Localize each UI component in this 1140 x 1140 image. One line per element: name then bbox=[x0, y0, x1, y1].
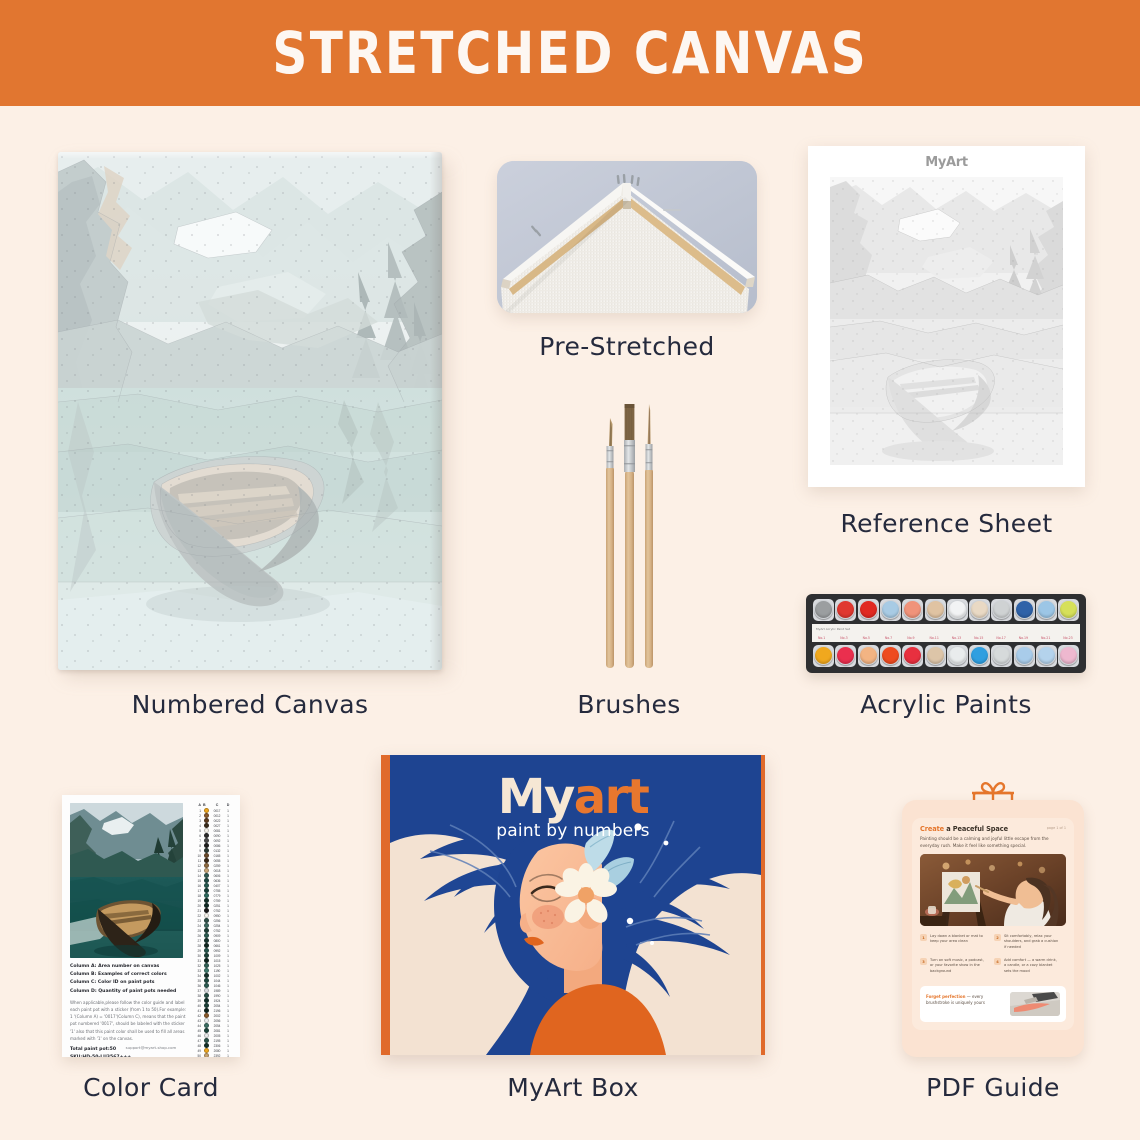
row-quantity: 1 bbox=[224, 1004, 232, 1008]
color-card-row: 3919241 bbox=[194, 998, 234, 1003]
color-card-row: 1300181 bbox=[194, 868, 234, 873]
row-quantity: 1 bbox=[224, 974, 232, 978]
row-quantity: 1 bbox=[224, 1024, 232, 1028]
color-card-row: 4320561 bbox=[194, 1018, 234, 1023]
row-area-number: 11 bbox=[194, 859, 203, 863]
col-header-c: C bbox=[210, 803, 224, 807]
col-header-a: A bbox=[194, 803, 203, 807]
row-area-number: 28 bbox=[194, 944, 203, 948]
svg-text:No.17: No.17 bbox=[996, 636, 1005, 640]
row-color-id: 2005 bbox=[210, 1034, 224, 1038]
acrylic-paints-figure: MyArt Acrylic Paint Set No.1No.3No.5No.7… bbox=[806, 594, 1086, 673]
pdf-guide-card: Create a Peaceful Space page 1 of 1 Pain… bbox=[902, 800, 1084, 1057]
row-area-number: 41 bbox=[194, 1009, 203, 1013]
fine-liner-brush bbox=[645, 404, 653, 668]
svg-text:No.3: No.3 bbox=[840, 636, 847, 640]
color-card-row: 200121 bbox=[194, 813, 234, 818]
caption-numbered-canvas: Numbered Canvas bbox=[58, 690, 442, 719]
row-area-number: 16 bbox=[194, 884, 203, 888]
color-card-row: 2507521 bbox=[194, 928, 234, 933]
row-quantity: 1 bbox=[224, 969, 232, 973]
svg-text:No.1: No.1 bbox=[818, 636, 825, 640]
row-color-id: 0017 bbox=[210, 809, 224, 813]
color-card-row: 1707551 bbox=[194, 888, 234, 893]
row-quantity: 1 bbox=[224, 1029, 232, 1033]
caption-reference-sheet: Reference Sheet bbox=[808, 509, 1085, 538]
row-color-id: 1044 bbox=[210, 979, 224, 983]
paint-pot bbox=[970, 600, 989, 619]
logo-art-text: art bbox=[574, 769, 649, 825]
myart-box-image: Myart paint by numbers bbox=[381, 755, 765, 1055]
row-color-id: 0027 bbox=[210, 824, 224, 828]
flat-wide-brush bbox=[624, 404, 635, 668]
tip-number: 1 bbox=[920, 934, 927, 941]
row-quantity: 1 bbox=[224, 919, 232, 923]
tip-number: 3 bbox=[920, 958, 927, 965]
row-color-id: 0055 bbox=[210, 859, 224, 863]
color-card-row: 4020541 bbox=[194, 1003, 234, 1008]
row-quantity: 1 bbox=[224, 989, 232, 993]
caption-brushes: Brushes bbox=[500, 690, 758, 719]
row-area-number: 44 bbox=[194, 1024, 203, 1028]
color-card-row: 3210251 bbox=[194, 963, 234, 968]
color-card-row: 2609091 bbox=[194, 933, 234, 938]
row-color-id: 1989 bbox=[210, 989, 224, 993]
pdf-guide-body: Painting should be a calming and joyful … bbox=[920, 836, 1066, 849]
row-quantity: 1 bbox=[224, 1019, 232, 1023]
row-area-number: 27 bbox=[194, 939, 203, 943]
heading-rest: a Peaceful Space bbox=[944, 825, 1008, 833]
color-card-row: 3819901 bbox=[194, 993, 234, 998]
row-area-number: 42 bbox=[194, 1014, 203, 1018]
row-color-id: 0018 bbox=[210, 869, 224, 873]
row-quantity: 1 bbox=[224, 944, 232, 948]
myart-box-logo: Myart bbox=[381, 769, 765, 825]
row-color-id: 0992 bbox=[210, 949, 224, 953]
row-color-id: 1002 bbox=[210, 974, 224, 978]
color-card-row: 2708001 bbox=[194, 938, 234, 943]
row-quantity: 1 bbox=[224, 1054, 232, 1057]
paint-pot bbox=[859, 646, 878, 665]
svg-text:No.11: No.11 bbox=[930, 636, 939, 640]
color-card-row: 2002511 bbox=[194, 903, 234, 908]
caption-pre-stretched: Pre-Stretched bbox=[497, 332, 757, 361]
row-quantity: 1 bbox=[224, 814, 232, 818]
pdf-guide-figure: Create a Peaceful Space page 1 of 1 Pain… bbox=[902, 780, 1084, 1057]
row-color-id: 0254 bbox=[210, 924, 224, 928]
color-card-row: 1907591 bbox=[194, 898, 234, 903]
row-quantity: 1 bbox=[224, 859, 232, 863]
color-card-row: 4220021 bbox=[194, 1013, 234, 1018]
row-color-id: 0081 bbox=[210, 829, 224, 833]
row-quantity: 1 bbox=[224, 874, 232, 878]
row-color-id: 0165 bbox=[210, 854, 224, 858]
numbered-canvas-image bbox=[58, 152, 442, 670]
row-quantity: 1 bbox=[224, 834, 232, 838]
row-color-id: 2002 bbox=[210, 1014, 224, 1018]
pdf-guide-note: Forget perfection — every brushstroke is… bbox=[920, 986, 1066, 1022]
sku-line: SKU:HD-50-LU3567+++ bbox=[70, 1054, 190, 1057]
row-color-id: 0950 bbox=[210, 914, 224, 918]
paint-pot bbox=[970, 646, 989, 665]
color-card-row: 800861 bbox=[194, 843, 234, 848]
brushstroke-closeup-svg bbox=[1010, 992, 1060, 1016]
myart-box-figure: Myart paint by numbers bbox=[381, 755, 765, 1055]
row-color-id: 2054 bbox=[210, 1004, 224, 1008]
color-card-row: 3311901 bbox=[194, 968, 234, 973]
brushes-svg bbox=[585, 388, 675, 673]
row-area-number: 32 bbox=[194, 964, 203, 968]
row-color-id: 0086 bbox=[210, 844, 224, 848]
color-card-row: 1001651 bbox=[194, 853, 234, 858]
svg-text:No.15: No.15 bbox=[974, 636, 983, 640]
tip-number: 2 bbox=[994, 934, 1001, 941]
row-area-number: 29 bbox=[194, 949, 203, 953]
row-quantity: 1 bbox=[224, 914, 232, 918]
row-area-number: 2 bbox=[194, 814, 203, 818]
row-quantity: 1 bbox=[224, 909, 232, 913]
row-color-id: 0755 bbox=[210, 889, 224, 893]
pdf-guide-tip: 3Turn on soft music, a podcast, or your … bbox=[920, 958, 986, 974]
color-card-row: 3010091 bbox=[194, 953, 234, 958]
row-area-number: 18 bbox=[194, 894, 203, 898]
color-card-row: 3410021 bbox=[194, 973, 234, 978]
row-color-id: 0132 bbox=[210, 849, 224, 853]
pdf-note-text: Forget perfection — every brushstroke is… bbox=[926, 994, 1004, 1006]
support-email: support@myart-shop.com bbox=[70, 1045, 232, 1050]
row-color-swatch bbox=[203, 1053, 210, 1057]
row-quantity: 1 bbox=[224, 949, 232, 953]
row-quantity: 1 bbox=[224, 884, 232, 888]
row-color-id: 0022 bbox=[210, 819, 224, 823]
color-card-scene-svg bbox=[70, 803, 183, 958]
legend-line-b: Column B: Examples of correct colors bbox=[70, 971, 190, 979]
row-color-id: 0909 bbox=[210, 934, 224, 938]
brushes-figure bbox=[585, 388, 675, 673]
painting-scene-photo-svg bbox=[920, 854, 1066, 926]
row-quantity: 1 bbox=[224, 824, 232, 828]
row-quantity: 1 bbox=[224, 964, 232, 968]
row-quantity: 1 bbox=[224, 889, 232, 893]
row-area-number: 24 bbox=[194, 924, 203, 928]
paint-tray: MyArt Acrylic Paint Set No.1No.3No.5No.7… bbox=[806, 594, 1086, 673]
row-quantity: 1 bbox=[224, 864, 232, 868]
paint-pot bbox=[859, 600, 878, 619]
row-color-id: 0090 bbox=[210, 834, 224, 838]
color-card-row: 3510441 bbox=[194, 978, 234, 983]
row-quantity: 1 bbox=[224, 1034, 232, 1038]
row-area-number: 20 bbox=[194, 904, 203, 908]
logo-my-text: My bbox=[498, 769, 574, 825]
row-color-id: 1009 bbox=[210, 954, 224, 958]
reference-scene-svg bbox=[830, 177, 1063, 465]
row-area-number: 30 bbox=[194, 954, 203, 958]
row-color-id: 1990 bbox=[210, 994, 224, 998]
heading-highlight: Create bbox=[920, 825, 944, 833]
row-area-number: 3 bbox=[194, 819, 203, 823]
svg-text:No.9: No.9 bbox=[907, 636, 914, 640]
svg-text:No.5: No.5 bbox=[863, 636, 870, 640]
pre-stretched-figure bbox=[497, 161, 757, 313]
row-area-number: 35 bbox=[194, 979, 203, 983]
row-color-id: 0259 bbox=[210, 864, 224, 868]
color-card-row: 2909921 bbox=[194, 948, 234, 953]
color-card-row: 100171 bbox=[194, 808, 234, 813]
tip-text: Turn on soft music, a podcast, or your f… bbox=[930, 958, 986, 974]
color-card-rows: 1001712001213002214002715008116009017009… bbox=[194, 808, 234, 1057]
row-quantity: 1 bbox=[224, 839, 232, 843]
row-quantity: 1 bbox=[224, 1039, 232, 1043]
color-card-row: 4721951 bbox=[194, 1038, 234, 1043]
row-quantity: 1 bbox=[224, 894, 232, 898]
color-card-table-header: A B C D bbox=[194, 803, 234, 807]
pdf-guide-page: Create a Peaceful Space page 1 of 1 Pain… bbox=[912, 818, 1074, 1030]
color-card-figure: A B C D 10017120012130022140027150081160… bbox=[62, 795, 240, 1057]
row-area-number: 12 bbox=[194, 864, 203, 868]
paint-pot bbox=[1015, 646, 1034, 665]
pdf-guide-heading: Create a Peaceful Space bbox=[920, 825, 1008, 833]
color-card-row: 400271 bbox=[194, 823, 234, 828]
color-card-row: 4121961 bbox=[194, 1008, 234, 1013]
row-quantity: 1 bbox=[224, 854, 232, 858]
row-color-id: 0759 bbox=[210, 899, 224, 903]
row-area-number: 22 bbox=[194, 914, 203, 918]
color-card-row: 1506361 bbox=[194, 878, 234, 883]
tip-text: Lay down a blanket or mat to keep your a… bbox=[930, 934, 986, 945]
row-color-id: 2392 bbox=[210, 1054, 224, 1057]
row-color-id: 0012 bbox=[210, 814, 224, 818]
row-color-id: 1924 bbox=[210, 999, 224, 1003]
row-color-id: 0606 bbox=[210, 874, 224, 878]
row-area-number: 43 bbox=[194, 1019, 203, 1023]
canvas-scene-svg bbox=[58, 152, 442, 670]
tip-text: Sit comfortably, relax your shoulders, a… bbox=[1004, 934, 1060, 950]
row-color-id: 0636 bbox=[210, 879, 224, 883]
row-area-number: 8 bbox=[194, 844, 203, 848]
paint-pot bbox=[948, 646, 967, 665]
legend-line-d: Column D: Quantity of paint pots needed bbox=[70, 988, 190, 996]
color-card-row: 4620051 bbox=[194, 1033, 234, 1038]
svg-text:No.7: No.7 bbox=[885, 636, 892, 640]
row-color-id: 0752 bbox=[210, 909, 224, 913]
paint-pot bbox=[948, 600, 967, 619]
row-quantity: 1 bbox=[224, 1014, 232, 1018]
color-card-paper: A B C D 10017120012130022140027150081160… bbox=[62, 795, 240, 1057]
color-card-row: 3110151 bbox=[194, 958, 234, 963]
row-area-number: 47 bbox=[194, 1039, 203, 1043]
row-area-number: 39 bbox=[194, 999, 203, 1003]
svg-text:No.23: No.23 bbox=[1063, 636, 1072, 640]
svg-text:No.13: No.13 bbox=[952, 636, 961, 640]
row-area-number: 1 bbox=[194, 809, 203, 813]
color-card-row: 700921 bbox=[194, 838, 234, 843]
row-quantity: 1 bbox=[224, 924, 232, 928]
row-area-number: 10 bbox=[194, 854, 203, 858]
legend-line-c: Column C: Color ID on paint pots bbox=[70, 979, 190, 987]
row-area-number: 46 bbox=[194, 1034, 203, 1038]
row-color-id: 0752 bbox=[210, 929, 224, 933]
row-area-number: 38 bbox=[194, 994, 203, 998]
row-color-id: 2056 bbox=[210, 1019, 224, 1023]
color-card-table: A B C D 10017120012130022140027150081160… bbox=[194, 803, 234, 1057]
caption-acrylic-paints: Acrylic Paints bbox=[806, 690, 1086, 719]
box-left-spine bbox=[381, 755, 390, 1055]
row-quantity: 1 bbox=[224, 934, 232, 938]
row-area-number: 17 bbox=[194, 889, 203, 893]
row-area-number: 4 bbox=[194, 824, 203, 828]
row-quantity: 1 bbox=[224, 1009, 232, 1013]
color-card-row: 4420541 bbox=[194, 1023, 234, 1028]
row-area-number: 26 bbox=[194, 934, 203, 938]
color-card-row: 2107521 bbox=[194, 908, 234, 913]
row-area-number: 6 bbox=[194, 834, 203, 838]
paint-pot bbox=[1037, 600, 1056, 619]
pdf-guide-tip: 2Sit comfortably, relax your shoulders, … bbox=[994, 934, 1060, 950]
row-quantity: 1 bbox=[224, 994, 232, 998]
color-card-row: 3719891 bbox=[194, 988, 234, 993]
row-color-id: 0251 bbox=[210, 904, 224, 908]
tip-text: Add comfort — a warm drink, a candle, or… bbox=[1004, 958, 1060, 974]
row-area-number: 25 bbox=[194, 929, 203, 933]
row-quantity: 1 bbox=[224, 829, 232, 833]
row-color-id: 1046 bbox=[210, 984, 224, 988]
paint-pot bbox=[814, 646, 833, 665]
row-quantity: 1 bbox=[224, 954, 232, 958]
row-quantity: 1 bbox=[224, 984, 232, 988]
color-card-row: 2302561 bbox=[194, 918, 234, 923]
row-area-number: 13 bbox=[194, 869, 203, 873]
row-color-id: 1025 bbox=[210, 964, 224, 968]
color-card-row: 2402541 bbox=[194, 923, 234, 928]
color-card-row: 1202591 bbox=[194, 863, 234, 868]
row-area-number: 15 bbox=[194, 879, 203, 883]
color-card-photo bbox=[70, 803, 183, 958]
row-area-number: 31 bbox=[194, 959, 203, 963]
color-card-row: 1100551 bbox=[194, 858, 234, 863]
row-area-number: 5 bbox=[194, 829, 203, 833]
row-color-id: 0779 bbox=[210, 894, 224, 898]
reference-sheet-figure: MyArt bbox=[808, 146, 1085, 487]
myart-box-subtitle: paint by numbers bbox=[381, 821, 765, 841]
row-color-id: 0256 bbox=[210, 919, 224, 923]
color-card-row: 1807791 bbox=[194, 893, 234, 898]
pdf-note-image bbox=[1010, 992, 1060, 1016]
paint-pot bbox=[881, 646, 900, 665]
paint-pot bbox=[1015, 600, 1034, 619]
svg-text:MyArt Acrylic Paint Set: MyArt Acrylic Paint Set bbox=[816, 627, 851, 631]
row-color-id: 0800 bbox=[210, 939, 224, 943]
row-quantity: 1 bbox=[224, 899, 232, 903]
caption-color-card: Color Card bbox=[20, 1073, 282, 1102]
svg-text:No.21: No.21 bbox=[1041, 636, 1050, 640]
col-header-d: D bbox=[224, 803, 232, 807]
row-color-id: 1190 bbox=[210, 969, 224, 973]
color-card-row: 1604071 bbox=[194, 883, 234, 888]
numbered-canvas-figure bbox=[58, 152, 448, 673]
color-card-row: 600901 bbox=[194, 833, 234, 838]
row-color-id: 1015 bbox=[210, 959, 224, 963]
legend-line-a: Column A: Area number on canvas bbox=[70, 963, 190, 971]
row-quantity: 1 bbox=[224, 959, 232, 963]
row-area-number: 33 bbox=[194, 969, 203, 973]
pdf-page-label: page 1 of 1 bbox=[1047, 826, 1066, 830]
paint-label-strip: MyArt Acrylic Paint Set No.1No.3No.5No.7… bbox=[812, 624, 1080, 642]
product-infographic: STRETCHED CANVAS bbox=[0, 0, 1140, 1140]
row-quantity: 1 bbox=[224, 929, 232, 933]
box-right-spine bbox=[761, 755, 765, 1055]
color-card-row: 1406061 bbox=[194, 873, 234, 878]
caption-myart-box: MyArt Box bbox=[381, 1073, 765, 1102]
row-area-number: 36 bbox=[194, 984, 203, 988]
row-color-id: 2054 bbox=[210, 1024, 224, 1028]
row-color-id: 2196 bbox=[210, 1009, 224, 1013]
row-quantity: 1 bbox=[224, 869, 232, 873]
row-quantity: 1 bbox=[224, 849, 232, 853]
row-area-number: 23 bbox=[194, 919, 203, 923]
color-card-row: 901321 bbox=[194, 848, 234, 853]
caption-pdf-guide: PDF Guide bbox=[880, 1073, 1106, 1102]
canvas-top-highlight bbox=[58, 152, 442, 159]
row-color-id: 2195 bbox=[210, 1039, 224, 1043]
row-quantity: 1 bbox=[224, 844, 232, 848]
row-area-number: 21 bbox=[194, 909, 203, 913]
myart-logo-reference: MyArt bbox=[808, 155, 1085, 170]
row-color-id: 0407 bbox=[210, 884, 224, 888]
paint-label-numbers: MyArt Acrylic Paint Set No.1No.3No.5No.7… bbox=[812, 624, 1080, 642]
row-color-id: 0661 bbox=[210, 944, 224, 948]
paint-pot bbox=[926, 600, 945, 619]
row-area-number: 7 bbox=[194, 839, 203, 843]
row-color-id: 2081 bbox=[210, 1029, 224, 1033]
pdf-guide-photo bbox=[920, 854, 1066, 926]
color-card-instructions: When applicable,please follow the color … bbox=[70, 999, 190, 1042]
row-quantity: 1 bbox=[224, 809, 232, 813]
pdf-guide-tip: 1Lay down a blanket or mat to keep your … bbox=[920, 934, 986, 945]
svg-text:No.19: No.19 bbox=[1019, 636, 1028, 640]
tip-number: 4 bbox=[994, 958, 1001, 965]
paint-pot bbox=[881, 600, 900, 619]
color-card-row: 5023921 bbox=[194, 1053, 234, 1057]
row-quantity: 1 bbox=[224, 879, 232, 883]
reference-sheet-paper: MyArt bbox=[808, 146, 1085, 487]
note-bold: Forget perfection bbox=[926, 994, 965, 999]
header-banner: STRETCHED CANVAS bbox=[0, 0, 1140, 106]
row-area-number: 37 bbox=[194, 989, 203, 993]
pre-stretched-image bbox=[497, 161, 757, 313]
row-quantity: 1 bbox=[224, 939, 232, 943]
row-quantity: 1 bbox=[224, 819, 232, 823]
reference-sheet-image bbox=[830, 177, 1063, 465]
row-area-number: 34 bbox=[194, 974, 203, 978]
page-title: STRETCHED CANVAS bbox=[272, 24, 868, 82]
row-quantity: 1 bbox=[224, 904, 232, 908]
paint-pot bbox=[814, 600, 833, 619]
color-card-legend: Column A: Area number on canvas Column B… bbox=[70, 963, 190, 1057]
color-card-row: 2806611 bbox=[194, 943, 234, 948]
paint-pot bbox=[1037, 646, 1056, 665]
row-area-number: 19 bbox=[194, 899, 203, 903]
color-card-row: 3610461 bbox=[194, 983, 234, 988]
canvas-side-edge bbox=[430, 152, 442, 670]
canvas-frame-corner-svg bbox=[497, 161, 757, 313]
paint-pot bbox=[926, 646, 945, 665]
angled-thin-brush bbox=[606, 418, 614, 668]
row-quantity: 1 bbox=[224, 999, 232, 1003]
row-area-number: 45 bbox=[194, 1029, 203, 1033]
col-header-b: B bbox=[203, 803, 210, 807]
color-card-row: 2209501 bbox=[194, 913, 234, 918]
row-area-number: 14 bbox=[194, 874, 203, 878]
